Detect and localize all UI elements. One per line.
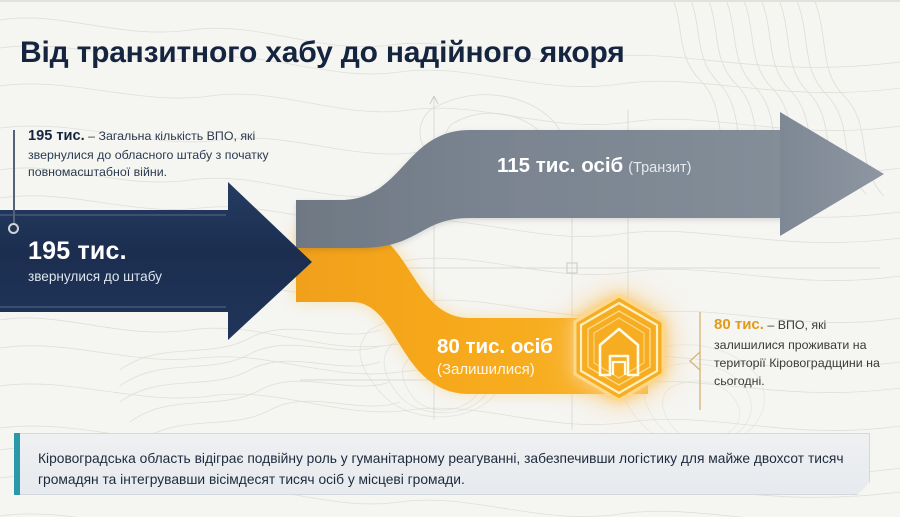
transit-arrow-head [780,112,884,236]
left-callout-dot [8,223,19,234]
right-callout-value: 80 тис. [714,316,764,333]
left-callout-value: 195 тис. [28,128,85,144]
input-arrow-value: 195 тис. [28,238,162,264]
summary-text: Кіровоградська область відіграє подвійну… [38,448,846,491]
summary-accent-bar [14,433,20,495]
infographic-canvas: Від транзитного хабу до надійного якоря … [0,0,900,517]
right-callout-bracket [690,312,700,410]
transit-paren: (Транзит) [628,160,691,176]
left-callout: 195 тис. – Загальна кількість ВПО, які з… [28,126,298,182]
right-callout: 80 тис. – ВПО, які залишилися проживати … [714,314,894,390]
stayed-paren: (Залишилися) [437,361,553,378]
branch-band-transit [296,130,792,248]
transit-value: 115 тис. осіб [497,154,623,177]
stayed-value: 80 тис. осіб [437,336,553,359]
page-title: Від транзитного хабу до надійного якоря [20,36,625,70]
stayed-label: 80 тис. осіб (Залишилися) [437,336,553,378]
input-arrow-caption: звернулися до штабу [28,269,162,284]
left-callout-rule [13,130,15,228]
transit-label: 115 тис. осіб(Транзит) [497,154,691,178]
input-arrow-label: 195 тис. звернулися до штабу [28,238,162,284]
